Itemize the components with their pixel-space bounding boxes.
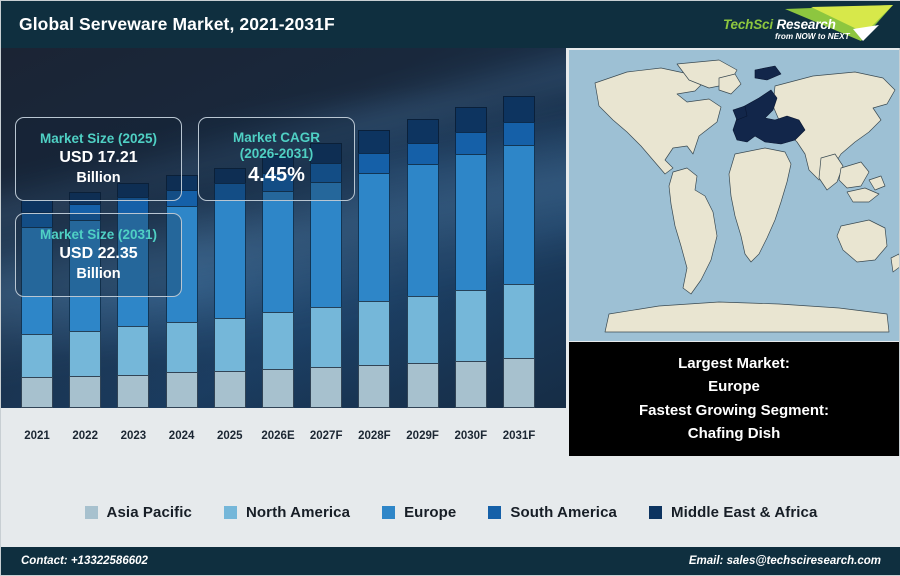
bar-segment-south-america[interactable]: [407, 143, 439, 164]
bar-segment-north-america[interactable]: [503, 284, 535, 358]
kpi-card-market-cagr: Market CAGR (2026-2031) 4.45%: [198, 117, 355, 201]
bar-segment-north-america[interactable]: [310, 307, 342, 367]
bar-segment-middle-east-africa[interactable]: [407, 119, 439, 142]
chart-panel: 202120222023202420252026E2027F2028F2029F…: [1, 48, 566, 456]
fastest-segment-label: Fastest Growing Segment:: [639, 400, 829, 422]
kpi-unit: Billion: [22, 265, 175, 284]
bar-segment-middle-east-africa[interactable]: [455, 107, 487, 132]
bar-segment-north-america[interactable]: [358, 301, 390, 365]
market-highlight-box: Largest Market: Europe Fastest Growing S…: [569, 342, 899, 456]
kpi-unit: Billion: [22, 169, 175, 188]
bar-segment-asia-pacific[interactable]: [214, 371, 246, 408]
map-landmass: [669, 168, 717, 294]
bar-segment-europe[interactable]: [455, 154, 487, 290]
bar-segment-north-america[interactable]: [262, 312, 294, 369]
bar-column[interactable]: [455, 107, 487, 408]
page-title: Global Serveware Market, 2021-2031F: [19, 14, 335, 35]
bar-segment-asia-pacific[interactable]: [455, 361, 487, 408]
world-map: [569, 50, 899, 341]
map-landmass: [729, 148, 791, 262]
legend-swatch-icon: [382, 506, 395, 519]
map-landmass: [837, 220, 887, 262]
infographic-root: Global Serveware Market, 2021-2031F Tech…: [0, 0, 900, 576]
legend-swatch-icon: [649, 506, 662, 519]
map-landmass: [869, 176, 885, 190]
logo-tech-text: TechS: [723, 17, 762, 32]
bar-segment-asia-pacific[interactable]: [310, 367, 342, 408]
footer-bar: Contact: +13322586602 Email: sales@techs…: [1, 547, 900, 575]
bar-segment-europe[interactable]: [358, 173, 390, 301]
bar-segment-north-america[interactable]: [214, 318, 246, 371]
bar-segment-asia-pacific[interactable]: [69, 376, 101, 408]
legend-label: Asia Pacific: [107, 504, 192, 521]
bar-segment-middle-east-africa[interactable]: [503, 96, 535, 122]
bar-segment-europe[interactable]: [214, 200, 246, 318]
techsci-research-logo[interactable]: TechSci Research from NOW to NEXT: [715, 3, 895, 47]
legend-item[interactable]: North America: [224, 504, 350, 521]
header-bar: Global Serveware Market, 2021-2031F Tech…: [1, 1, 900, 48]
kpi-label: Market Size (2025): [22, 131, 175, 147]
bar-segment-south-america[interactable]: [503, 122, 535, 145]
legend-label: Europe: [404, 504, 456, 521]
kpi-value: USD 17.21: [22, 147, 175, 169]
bar-segment-north-america[interactable]: [455, 290, 487, 360]
bar-segment-north-america[interactable]: [69, 331, 101, 376]
legend-swatch-icon: [224, 506, 237, 519]
map-landmass: [819, 154, 843, 190]
bar-segment-asia-pacific[interactable]: [166, 372, 198, 408]
bar-segment-europe[interactable]: [407, 164, 439, 296]
legend-label: North America: [246, 504, 350, 521]
bar-segment-south-america[interactable]: [455, 132, 487, 154]
bar-segment-south-america[interactable]: [358, 153, 390, 173]
legend-label: South America: [510, 504, 617, 521]
map-landmass: [839, 162, 869, 188]
legend-label: Middle East & Africa: [671, 504, 817, 521]
kpi-card-market-size-2031: Market Size (2031) USD 22.35 Billion: [15, 213, 182, 297]
map-landmass: [847, 188, 879, 202]
legend-item[interactable]: South America: [488, 504, 617, 521]
map-landmass: [719, 74, 741, 94]
bar-segment-north-america[interactable]: [166, 322, 198, 372]
bar-segment-asia-pacific[interactable]: [117, 375, 149, 409]
bar-segment-asia-pacific[interactable]: [358, 365, 390, 408]
bar-segment-middle-east-africa[interactable]: [21, 200, 53, 212]
kpi-value: 4.45%: [205, 162, 348, 188]
logo-wordmark: TechSci Research: [723, 17, 836, 32]
footer-email: Email: sales@techsciresearch.com: [689, 555, 881, 567]
map-highlight-europe: [755, 66, 781, 80]
bar-column[interactable]: [407, 119, 439, 408]
bar-segment-asia-pacific[interactable]: [21, 377, 53, 408]
largest-market-label: Largest Market:: [678, 353, 790, 375]
bar-segment-middle-east-africa[interactable]: [358, 130, 390, 152]
logo-research-text: Research: [776, 17, 835, 32]
bar-segment-north-america[interactable]: [117, 326, 149, 374]
logo-tagline: from NOW to NEXT: [775, 32, 850, 41]
kpi-label: Market Size (2031): [22, 227, 175, 243]
bar-segment-north-america[interactable]: [21, 334, 53, 377]
bar-column[interactable]: [358, 130, 390, 408]
legend-swatch-icon: [85, 506, 98, 519]
x-axis-tick-label: 2031F: [491, 430, 547, 442]
kpi-card-market-size-2025: Market Size (2025) USD 17.21 Billion: [15, 117, 182, 201]
chart-legend: Asia PacificNorth AmericaEuropeSouth Ame…: [1, 456, 900, 548]
largest-market-value: Europe: [708, 376, 760, 398]
map-landmass: [891, 254, 899, 272]
bar-segment-asia-pacific[interactable]: [407, 363, 439, 408]
legend-item[interactable]: Europe: [382, 504, 456, 521]
legend-swatch-icon: [488, 506, 501, 519]
legend-item[interactable]: Asia Pacific: [85, 504, 192, 521]
bar-segment-north-america[interactable]: [407, 296, 439, 363]
kpi-value: USD 22.35: [22, 243, 175, 265]
bar-segment-europe[interactable]: [262, 191, 294, 312]
logo-sci-text: ci: [762, 17, 776, 32]
bar-segment-asia-pacific[interactable]: [262, 369, 294, 408]
legend-item[interactable]: Middle East & Africa: [649, 504, 817, 521]
bar-segment-europe[interactable]: [503, 145, 535, 285]
footer-contact: Contact: +13322586602: [21, 555, 148, 567]
kpi-label: Market CAGR: [205, 130, 348, 146]
kpi-sublabel: (2026-2031): [205, 146, 348, 162]
fastest-segment-value: Chafing Dish: [688, 423, 781, 445]
bar-segment-asia-pacific[interactable]: [503, 358, 535, 408]
world-map-svg: [569, 50, 899, 341]
bar-column[interactable]: [214, 168, 246, 408]
map-landmass: [605, 302, 889, 332]
x-axis-strip: 202120222023202420252026E2027F2028F2029F…: [1, 408, 566, 456]
bar-column[interactable]: [503, 96, 535, 408]
